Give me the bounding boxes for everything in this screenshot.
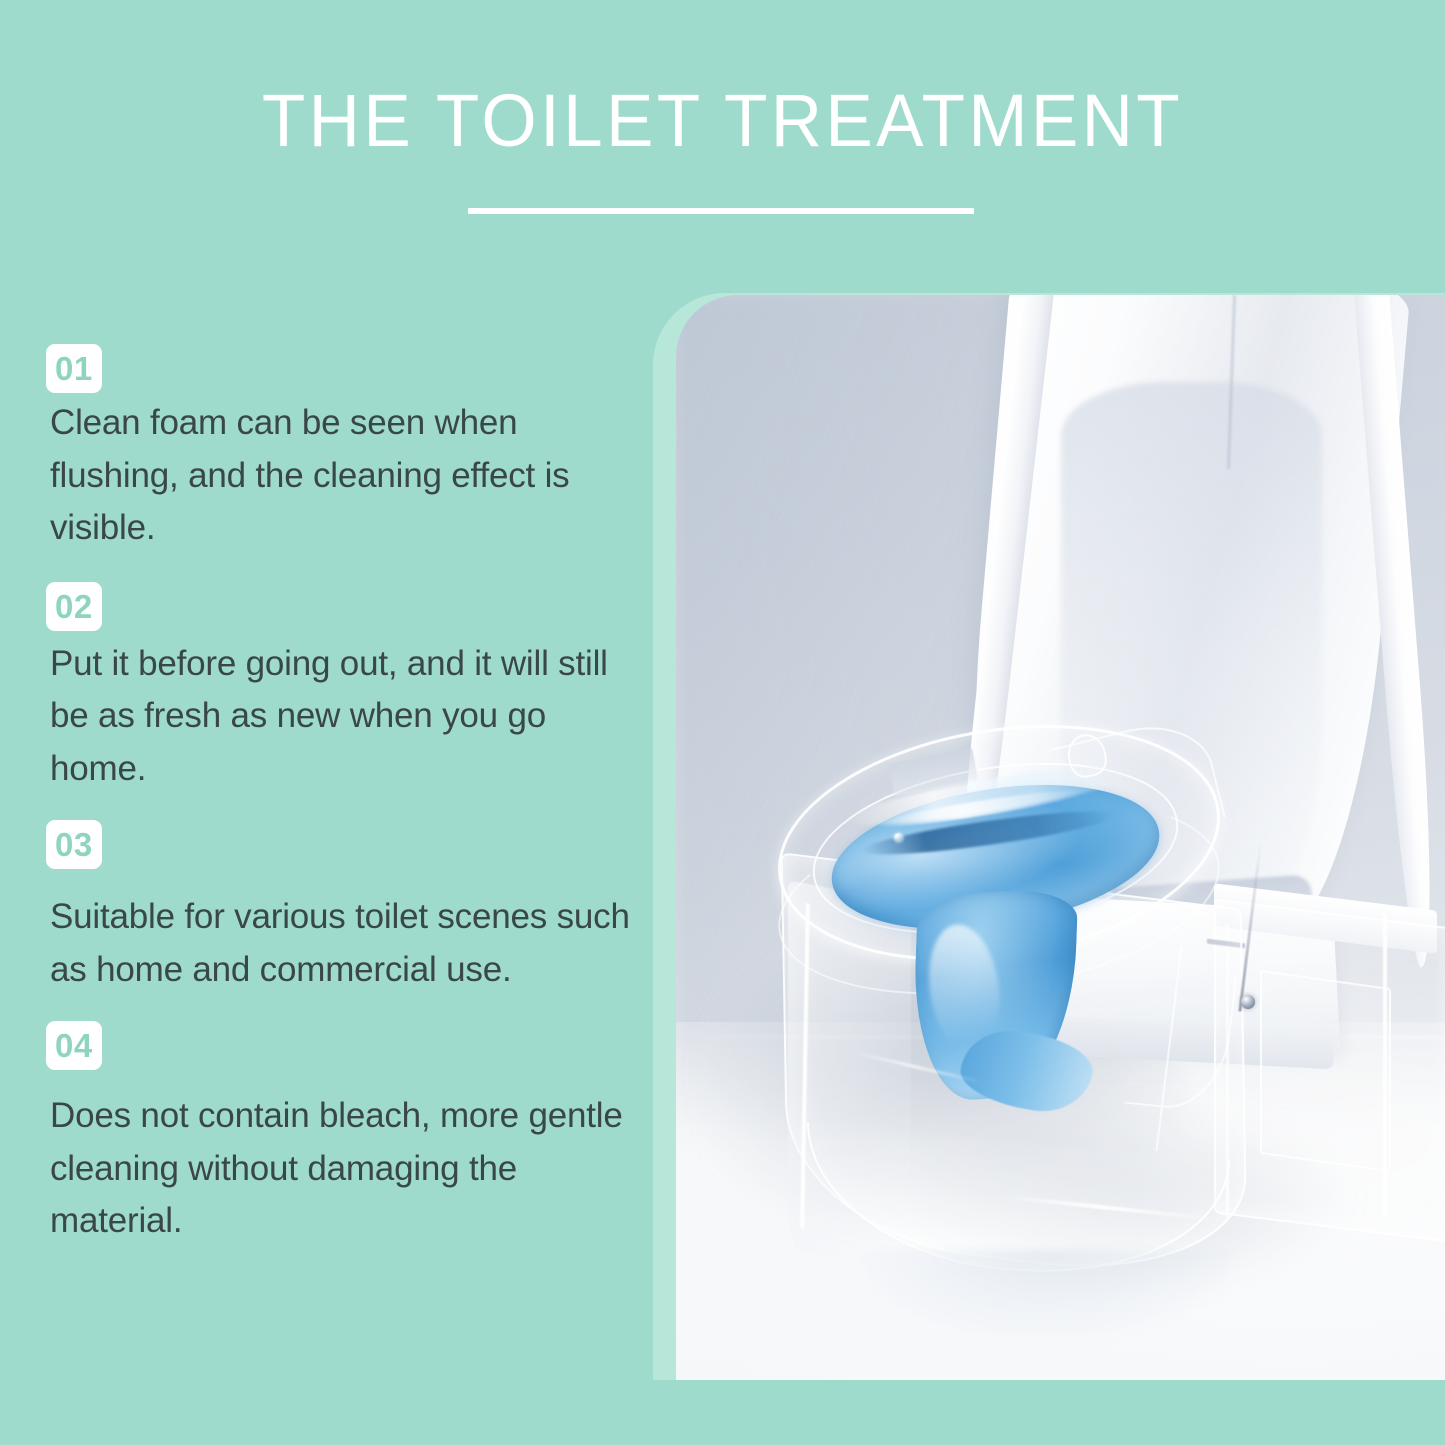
feature-item-04: 04 Does not contain bleach, more gentle … [46, 1021, 646, 1248]
feature-description-01: Clean foam can be seen when flushing, an… [50, 397, 646, 555]
glass-highlight-left [800, 903, 810, 1228]
photo-highlight-layer [676, 295, 1445, 1380]
feature-item-03: 03 Suitable for various toilet scenes su… [46, 820, 646, 996]
title-underline-divider [468, 208, 974, 214]
feature-item-01: 01 Clean foam can be seen when flushing,… [46, 344, 646, 555]
page-title: THE TOILET TREATMENT [29, 84, 1416, 158]
glass-highlight-base [999, 1195, 1221, 1222]
feature-number-badge-03: 03 [46, 820, 102, 869]
feature-number-badge-02: 02 [46, 582, 102, 631]
product-photo [676, 295, 1445, 1380]
header: THE TOILET TREATMENT [0, 84, 1445, 158]
feature-description-02: Put it before going out, and it will sti… [50, 638, 646, 796]
floor-reflection [861, 1250, 1230, 1337]
feature-list: 01 Clean foam can be seen when flushing,… [46, 344, 646, 1248]
glass-highlight-mid [847, 1050, 983, 1084]
feature-description-03: Suitable for various toilet scenes such … [50, 891, 646, 996]
feature-description-04: Does not contain bleach, more gentle cle… [50, 1090, 646, 1248]
feature-item-02: 02 Put it before going out, and it will … [46, 582, 646, 796]
product-photo-frame [653, 293, 1445, 1380]
feature-number-badge-04: 04 [46, 1021, 102, 1070]
feature-number-badge-01: 01 [46, 344, 102, 393]
